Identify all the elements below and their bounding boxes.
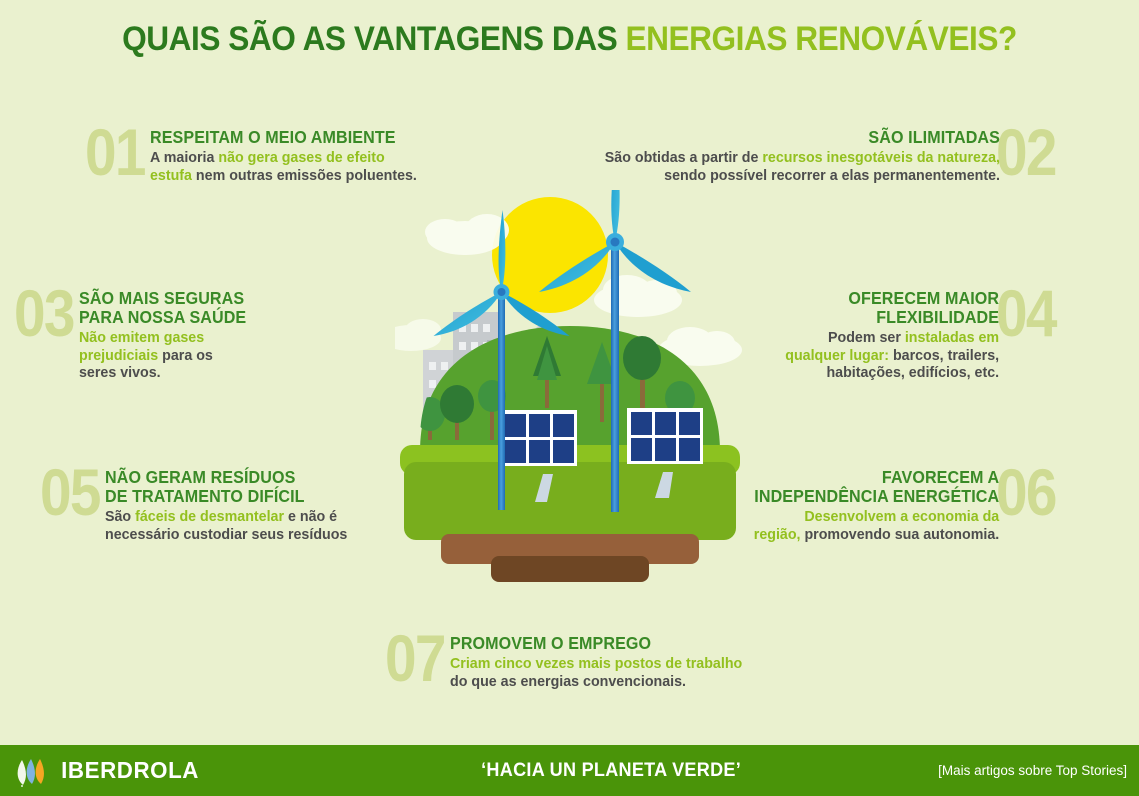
renewable-energy-illustration <box>395 190 745 590</box>
item-body-line: qualquer lugar: barcos, trailers, <box>786 347 1000 365</box>
item-body-line: sendo possível recorrer a elas permanent… <box>604 167 999 185</box>
brand-logo[interactable]: IBERDROLA <box>14 755 344 787</box>
item-body-line: A maioria não gera gases de efeito <box>150 149 417 167</box>
item-heading-line: SÃO MAIS SEGURAS <box>79 289 246 308</box>
item-text: SÃO ILIMITADAS São obtidas a partir de r… <box>584 122 1000 184</box>
footer-bar: IBERDROLA ‘HACIA UN PLANETA VERDE’ [Mais… <box>0 745 1139 796</box>
body-seg: necessário custodiar seus resíduos <box>105 526 347 543</box>
body-seg: sendo possível recorrer a elas permanent… <box>664 167 1000 184</box>
item-body-line: São obtidas a partir de recursos inesgot… <box>604 149 999 167</box>
advantage-item-06: FAVORECEM A INDEPENDÊNCIA ENERGÉTICA Des… <box>733 462 1065 543</box>
item-heading-line: SÃO ILIMITADAS <box>617 128 1000 147</box>
body-seg: seres vivos. <box>79 364 161 381</box>
brand-name: IBERDROLA <box>61 757 199 784</box>
body-seg-highlight: Desenvolvem a economia da <box>805 508 1000 525</box>
item-text: OFERECEM MAIOR FLEXIBILIDADE Podem ser i… <box>774 283 999 382</box>
page-title-part1: QUAIS SÃO AS VANTAGENS DAS <box>122 20 625 58</box>
item-heading-line: PARA NOSSA SAÚDE <box>79 308 246 327</box>
infographic-page: QUAIS SÃO AS VANTAGENS DAS ENERGIAS RENO… <box>0 0 1139 796</box>
item-body: São obtidas a partir de recursos inesgot… <box>604 149 999 184</box>
body-seg: nem outras emissões poluentes. <box>192 167 417 184</box>
advantage-item-01: 01 RESPEITAM O MEIO AMBIENTE A maioria n… <box>85 122 431 184</box>
ground-slab-main <box>404 462 736 540</box>
body-seg: do que as energias convencionais. <box>450 673 686 690</box>
body-seg-highlight: recursos inesgotáveis da natureza, <box>762 149 1000 166</box>
sun-icon <box>492 197 608 313</box>
body-seg-highlight: estufa <box>150 167 192 184</box>
item-text: RESPEITAM O MEIO AMBIENTE A maioria não … <box>150 122 431 184</box>
body-seg-highlight: instaladas em <box>905 329 999 346</box>
item-heading-line: DE TRATAMENTO DIFÍCIL <box>105 487 340 506</box>
item-heading-line: RESPEITAM O MEIO AMBIENTE <box>150 128 408 147</box>
item-body-line: região, promovendo sua autonomia. <box>747 526 1000 544</box>
item-text: PROMOVEM O EMPREGO Criam cinco vezes mai… <box>450 628 758 690</box>
item-heading-line: INDEPENDÊNCIA ENERGÉTICA <box>755 487 1000 506</box>
body-seg-highlight: prejudiciais <box>79 347 158 364</box>
body-seg: São <box>105 508 135 525</box>
item-number: 02 <box>996 122 1056 182</box>
item-body-line: São fáceis de desmantelar e não é <box>105 508 347 526</box>
advantage-item-04: OFERECEM MAIOR FLEXIBILIDADE Podem ser i… <box>774 283 1065 382</box>
item-heading-line: OFERECEM MAIOR <box>792 289 999 308</box>
body-seg: habitações, edifícios, etc. <box>827 364 1000 381</box>
advantage-item-03: 03 SÃO MAIS SEGURAS PARA NOSSA SAÚDE Não… <box>14 283 261 382</box>
item-body-line: necessário custodiar seus resíduos <box>105 526 347 544</box>
body-seg: A maioria <box>150 149 218 166</box>
item-body-line: habitações, edifícios, etc. <box>786 364 1000 382</box>
item-text: SÃO MAIS SEGURAS PARA NOSSA SAÚDE Não em… <box>79 283 261 382</box>
item-body: Podem ser instaladas em qualquer lugar: … <box>786 329 1000 382</box>
body-seg: para os <box>159 347 214 364</box>
body-seg-highlight: Não emitem gases <box>79 329 204 346</box>
item-text: FAVORECEM A INDEPENDÊNCIA ENERGÉTICA Des… <box>733 462 999 543</box>
item-number: 03 <box>14 283 74 343</box>
body-seg-highlight: qualquer lugar: <box>786 347 890 364</box>
item-heading-line: FLEXIBILIDADE <box>792 308 999 327</box>
item-body: Não emitem gases prejudiciais para os se… <box>79 329 252 382</box>
body-seg: São obtidas a partir de <box>604 149 762 166</box>
body-seg: promovendo sua autonomia. <box>801 526 1000 543</box>
item-body-line: seres vivos. <box>79 364 252 382</box>
item-body-line: prejudiciais para os <box>79 347 252 365</box>
iberdrola-flame-icon <box>14 755 50 787</box>
item-body-line: Podem ser instaladas em <box>786 329 1000 347</box>
body-seg: e não é <box>284 508 337 525</box>
item-body: A maioria não gera gases de efeito estuf… <box>150 149 417 184</box>
page-title: QUAIS SÃO AS VANTAGENS DAS ENERGIAS RENO… <box>40 20 1099 59</box>
item-text: NÃO GERAM RESÍDUOS DE TRATAMENTO DIFÍCIL… <box>105 462 360 543</box>
item-body-line: estufa nem outras emissões poluentes. <box>150 167 417 185</box>
body-seg-highlight: não gera gases de efeito <box>219 149 385 166</box>
item-heading-line: FAVORECEM A <box>755 468 1000 487</box>
item-number: 05 <box>40 462 100 522</box>
item-number: 06 <box>996 462 1056 522</box>
more-articles-link[interactable]: [Mais artigos sobre Top Stories] <box>938 763 1127 778</box>
body-seg-highlight: fáceis de desmantelar <box>136 508 285 525</box>
soil-layer-dark <box>491 556 649 582</box>
item-body: Criam cinco vezes mais postos de trabalh… <box>450 655 742 690</box>
item-body-line: Desenvolvem a economia da <box>747 508 1000 526</box>
item-body-line: Criam cinco vezes mais postos de trabalh… <box>450 655 742 673</box>
item-heading-line: NÃO GERAM RESÍDUOS <box>105 468 340 487</box>
advantage-item-02: SÃO ILIMITADAS São obtidas a partir de r… <box>584 122 1065 184</box>
advantage-item-05: 05 NÃO GERAM RESÍDUOS DE TRATAMENTO DIFÍ… <box>40 462 361 543</box>
item-number: 01 <box>85 122 145 182</box>
body-seg-highlight: região, <box>754 526 801 543</box>
body-seg: barcos, trailers, <box>889 347 999 364</box>
item-number: 07 <box>385 628 445 688</box>
item-body: São fáceis de desmantelar e não é necess… <box>105 508 347 543</box>
item-body: Desenvolvem a economia da região, promov… <box>747 508 1000 543</box>
item-body-line: Não emitem gases <box>79 329 252 347</box>
body-seg-highlight: Criam cinco vezes mais postos de trabalh… <box>450 655 742 672</box>
advantage-item-07: 07 PROMOVEM O EMPREGO Criam cinco vezes … <box>385 628 758 690</box>
item-heading-line: PROMOVEM O EMPREGO <box>450 634 733 653</box>
page-title-part2: ENERGIAS RENOVÁVEIS? <box>626 20 1017 58</box>
footer-tagline: ‘HACIA UN PLANETA VERDE’ <box>300 760 921 782</box>
item-number: 04 <box>996 283 1056 343</box>
cloud-icon <box>395 319 441 351</box>
body-seg: Podem ser <box>828 329 905 346</box>
item-body-line: do que as energias convencionais. <box>450 673 742 691</box>
